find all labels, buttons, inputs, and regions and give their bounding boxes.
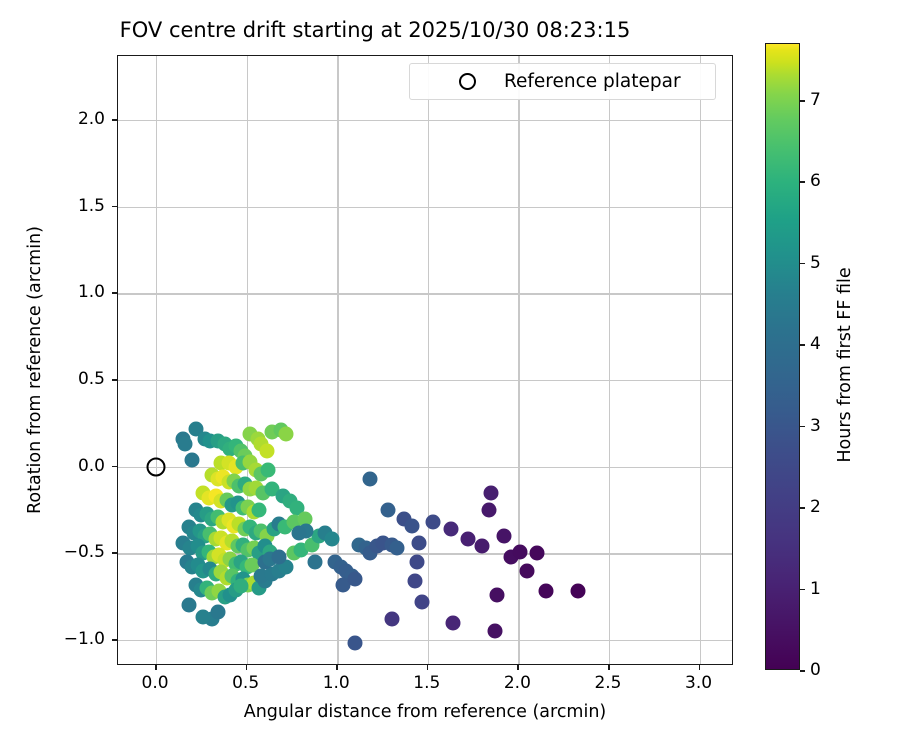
x-tick-label: 3.0 bbox=[685, 673, 712, 693]
gridline-vertical bbox=[700, 56, 701, 664]
x-tick bbox=[155, 665, 157, 670]
scatter-point bbox=[272, 549, 287, 564]
colorbar-tick bbox=[800, 670, 805, 672]
scatter-point bbox=[513, 544, 528, 559]
scatter-point bbox=[178, 437, 193, 452]
scatter-point bbox=[409, 555, 424, 570]
scatter-point bbox=[348, 572, 363, 587]
scatter-point bbox=[196, 610, 211, 625]
y-tick-label: 1.5 bbox=[78, 196, 105, 216]
colorbar-tick-label: 4 bbox=[810, 334, 821, 354]
x-tick bbox=[608, 665, 610, 670]
scatter-point bbox=[426, 515, 441, 530]
y-tick-label: 0.0 bbox=[78, 456, 105, 476]
plot-area bbox=[117, 55, 733, 665]
scatter-point bbox=[482, 503, 497, 518]
gridline-horizontal bbox=[118, 640, 732, 641]
scatter-point bbox=[415, 594, 430, 609]
x-tick-label: 0.5 bbox=[232, 673, 259, 693]
scatter-point bbox=[475, 539, 490, 554]
colorbar-tick-label: 5 bbox=[810, 253, 821, 273]
scatter-point bbox=[380, 503, 395, 518]
scatter-point bbox=[408, 574, 423, 589]
x-tick-label: 2.0 bbox=[504, 673, 531, 693]
scatter-point bbox=[324, 532, 339, 547]
scatter-point bbox=[261, 463, 276, 478]
y-tick-label: −1.0 bbox=[64, 629, 105, 649]
gridline-horizontal bbox=[118, 120, 732, 121]
scatter-point bbox=[404, 518, 419, 533]
scatter-point bbox=[259, 444, 274, 459]
colorbar-tick-label: 7 bbox=[810, 90, 821, 110]
x-tick bbox=[336, 665, 338, 670]
y-tick-label: 2.0 bbox=[78, 109, 105, 129]
scatter-point bbox=[460, 532, 475, 547]
y-axis-label: Rotation from reference (arcmin) bbox=[25, 120, 45, 620]
colorbar-label: Hours from first FF file bbox=[835, 115, 855, 615]
legend: Reference platepar bbox=[409, 63, 716, 100]
scatter-point bbox=[484, 485, 499, 500]
gridline-horizontal bbox=[118, 293, 732, 294]
colorbar-tick-label: 6 bbox=[810, 171, 821, 191]
scatter-point bbox=[185, 452, 200, 467]
x-axis-label: Angular distance from reference (arcmin) bbox=[117, 702, 733, 722]
scatter-point bbox=[529, 546, 544, 561]
colorbar-tick bbox=[800, 589, 805, 591]
x-tick-label: 2.5 bbox=[594, 673, 621, 693]
gridline-vertical bbox=[428, 56, 429, 664]
colorbar-tick-label: 0 bbox=[810, 660, 821, 680]
x-tick bbox=[699, 665, 701, 670]
x-tick-label: 1.5 bbox=[413, 673, 440, 693]
scatter-point bbox=[384, 612, 399, 627]
scatter-point bbox=[234, 579, 249, 594]
y-tick bbox=[112, 639, 117, 641]
y-tick bbox=[112, 206, 117, 208]
y-tick-label: −0.5 bbox=[64, 542, 105, 562]
y-tick bbox=[112, 466, 117, 468]
x-tick-label: 0.0 bbox=[142, 673, 169, 693]
gridline-vertical bbox=[156, 56, 157, 664]
scatter-point bbox=[538, 584, 553, 599]
scatter-point bbox=[308, 555, 323, 570]
scatter-point bbox=[279, 426, 294, 441]
gridline-vertical bbox=[609, 56, 610, 664]
colorbar-tick bbox=[800, 507, 805, 509]
y-tick bbox=[112, 292, 117, 294]
gridline-horizontal bbox=[118, 380, 732, 381]
x-tick bbox=[517, 665, 519, 670]
x-tick-label: 1.0 bbox=[323, 673, 350, 693]
scatter-point bbox=[390, 541, 405, 556]
gridline-horizontal bbox=[118, 207, 732, 208]
colorbar-tick bbox=[800, 100, 805, 102]
figure-canvas: FOV centre drift starting at 2025/10/30 … bbox=[0, 0, 900, 750]
scatter-point bbox=[181, 598, 196, 613]
scatter-point bbox=[411, 535, 426, 550]
reference-platepar-marker bbox=[147, 457, 166, 476]
colorbar-tick-label: 1 bbox=[810, 579, 821, 599]
chart-title: FOV centre drift starting at 2025/10/30 … bbox=[0, 18, 750, 42]
y-tick bbox=[112, 552, 117, 554]
scatter-point bbox=[446, 615, 461, 630]
x-tick bbox=[427, 665, 429, 670]
y-tick bbox=[112, 119, 117, 121]
scatter-point bbox=[489, 587, 504, 602]
colorbar-tick bbox=[800, 263, 805, 265]
scatter-point bbox=[210, 605, 225, 620]
colorbar-tick bbox=[800, 181, 805, 183]
scatter-point bbox=[252, 503, 267, 518]
scatter-point bbox=[520, 563, 535, 578]
legend-label: Reference platepar bbox=[504, 71, 681, 92]
y-tick-label: 0.5 bbox=[78, 369, 105, 389]
scatter-point bbox=[487, 624, 502, 639]
legend-circle-icon bbox=[459, 73, 476, 90]
y-tick bbox=[112, 379, 117, 381]
scatter-point bbox=[362, 471, 377, 486]
colorbar-tick bbox=[800, 344, 805, 346]
colorbar-tick bbox=[800, 426, 805, 428]
colorbar bbox=[765, 43, 800, 670]
scatter-point bbox=[496, 529, 511, 544]
colorbar-tick-label: 2 bbox=[810, 497, 821, 517]
scatter-point bbox=[571, 584, 586, 599]
y-tick-label: 1.0 bbox=[78, 282, 105, 302]
scatter-point bbox=[444, 522, 459, 537]
scatter-point bbox=[292, 525, 307, 540]
scatter-point bbox=[348, 636, 363, 651]
x-tick bbox=[246, 665, 248, 670]
colorbar-tick-label: 3 bbox=[810, 416, 821, 436]
